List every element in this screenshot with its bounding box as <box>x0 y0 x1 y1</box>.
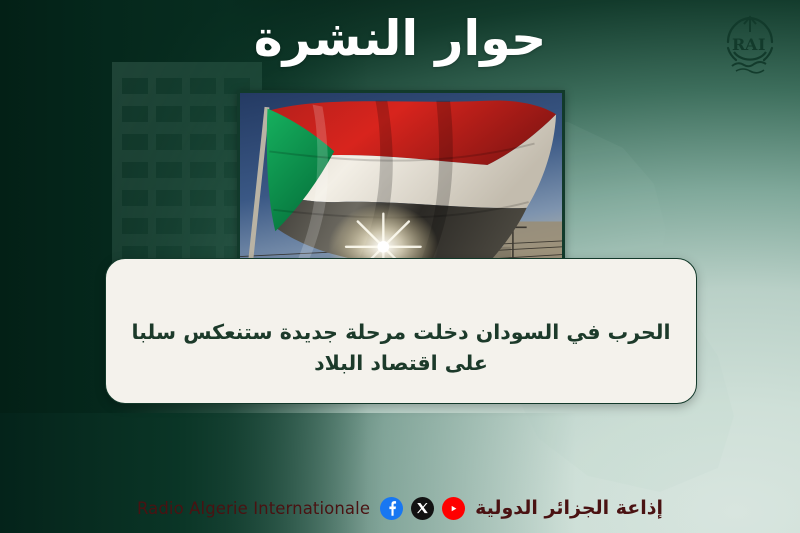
footer-latin-label: Radio Algerie Internationale <box>137 499 370 518</box>
poster-canvas: R A I حوار النشرة <box>0 0 800 533</box>
headline-card: الحرب في السودان دخلت مرحلة جديدة ستنعكس… <box>105 258 697 404</box>
footer-bar: Radio Algerie Internationale <box>0 491 800 525</box>
social-links <box>380 497 465 520</box>
x-twitter-icon[interactable] <box>411 497 434 520</box>
headline-text: الحرب في السودان دخلت مرحلة جديدة ستنعكس… <box>106 317 696 379</box>
facebook-icon[interactable] <box>380 497 403 520</box>
footer-arabic-label: إذاعة الجزائر الدولية <box>475 497 663 519</box>
youtube-icon[interactable] <box>442 497 465 520</box>
page-title: حوار النشرة <box>0 8 800 69</box>
